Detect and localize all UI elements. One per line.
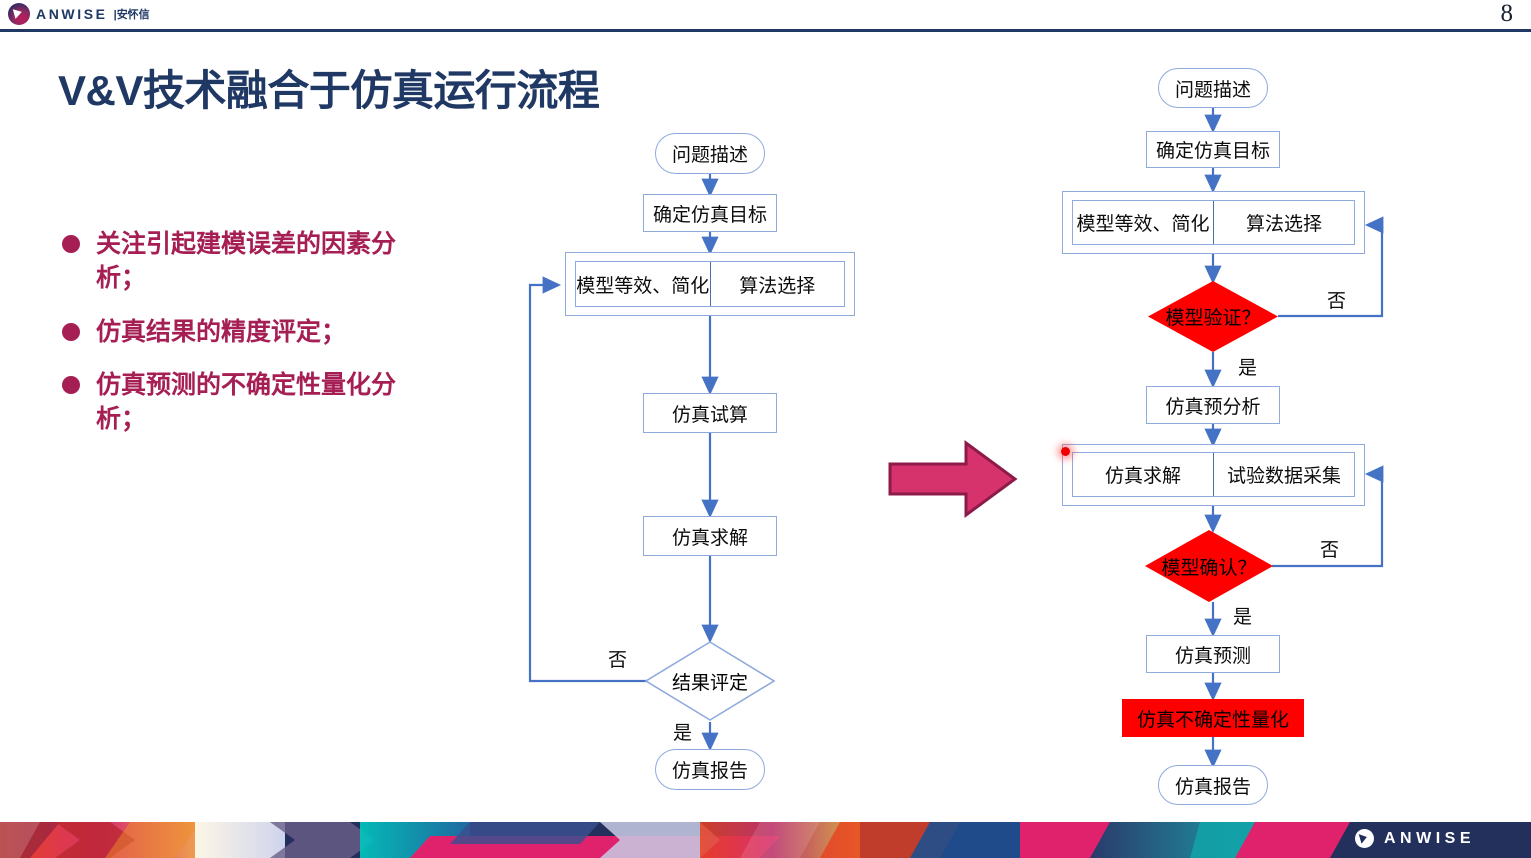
flow-node-validate-label: 模型确认？ — [1145, 530, 1273, 602]
bullet-text: 仿真预测的不确定性量化分析； — [96, 369, 396, 437]
page-title: V&V技术融合于仿真运行流程 — [58, 57, 599, 118]
edge-label-yes: 是 — [673, 718, 692, 745]
flow-node-algorithm: 算法选择 — [710, 262, 845, 306]
flow-node-solve: 仿真求解 — [643, 516, 777, 556]
flow-node-model-simplify: 模型等效、简化 — [576, 262, 710, 306]
page-number: 8 — [1501, 0, 1514, 28]
flow-node-report: 仿真报告 — [655, 749, 765, 790]
flow-node-modeling-split: 模型等效、简化 算法选择 — [1072, 200, 1355, 245]
list-item: 关注引起建模误差的因素分析； — [62, 228, 462, 296]
flow-node-verify-label: 模型验证？ — [1148, 281, 1278, 352]
flow-node-evaluate-label: 结果评定 — [645, 641, 775, 721]
anwise-logo-text: ANWISE — [36, 6, 108, 22]
flow-node-start: 问题描述 — [655, 133, 765, 174]
flow-node-start: 问题描述 — [1158, 68, 1268, 108]
footer-banner-graphic — [0, 822, 1531, 858]
edge-label-no: 否 — [608, 645, 627, 672]
flow-node-goal: 确定仿真目标 — [643, 194, 777, 232]
bullet-text: 关注引起建模误差的因素分析； — [96, 228, 396, 296]
flow-node-validate: 模型确认？ — [1145, 530, 1273, 602]
list-item: 仿真预测的不确定性量化分析； — [62, 369, 462, 437]
bullet-dot-icon — [62, 376, 80, 394]
flow-node-algorithm: 算法选择 — [1213, 201, 1354, 244]
bullet-dot-icon — [62, 235, 80, 253]
flow-node-data-collect: 试验数据采集 — [1213, 453, 1354, 496]
flow-node-evaluate: 结果评定 — [645, 641, 775, 721]
footer-logo-icon — [1355, 829, 1374, 848]
edge-label-validate-yes: 是 — [1233, 602, 1252, 629]
flow-node-predict: 仿真预测 — [1146, 635, 1280, 673]
bullet-dot-icon — [62, 323, 80, 341]
annotation-marker-dot — [1061, 447, 1070, 456]
edge-label-verify-yes: 是 — [1238, 353, 1257, 380]
bullet-list: 关注引起建模误差的因素分析； 仿真结果的精度评定； 仿真预测的不确定性量化分析； — [62, 228, 462, 457]
flow-node-modeling-split: 模型等效、简化 算法选择 — [575, 261, 845, 307]
anwise-logo-cn-text: |安怀信 — [114, 6, 150, 22]
slide-header: ANWISE |安怀信 8 — [0, 0, 1531, 30]
flow-node-model-simplify: 模型等效、简化 — [1073, 201, 1213, 244]
list-item: 仿真结果的精度评定； — [62, 316, 462, 350]
flow-node-goal: 确定仿真目标 — [1146, 131, 1280, 168]
flow-node-solve: 仿真求解 — [1073, 453, 1213, 496]
flow-node-trial: 仿真试算 — [643, 393, 777, 433]
footer-logo-text: ANWISE — [1384, 830, 1475, 848]
footer-anwise-logo: ANWISE — [1355, 829, 1475, 848]
header-divider — [0, 29, 1531, 32]
footer-banner: ANWISE — [0, 822, 1531, 858]
slide: ANWISE |安怀信 8 V&V技术融合于仿真运行流程 关注引起建模误差的因素… — [0, 0, 1531, 858]
edge-label-validate-no: 否 — [1320, 535, 1339, 562]
anwise-logo: ANWISE |安怀信 — [8, 3, 150, 25]
edge-label-verify-no: 否 — [1327, 286, 1346, 313]
bullet-text: 仿真结果的精度评定； — [96, 316, 396, 350]
anwise-logo-icon — [8, 3, 30, 25]
flow-node-uncertainty: 仿真不确定性量化 — [1122, 699, 1304, 737]
transition-arrow-icon — [888, 440, 1018, 518]
flow-node-report: 仿真报告 — [1158, 765, 1268, 805]
flow-node-pre-analysis: 仿真预分析 — [1146, 386, 1280, 424]
flow-node-solve-split: 仿真求解 试验数据采集 — [1072, 452, 1355, 497]
flow-node-verify: 模型验证？ — [1148, 281, 1278, 352]
